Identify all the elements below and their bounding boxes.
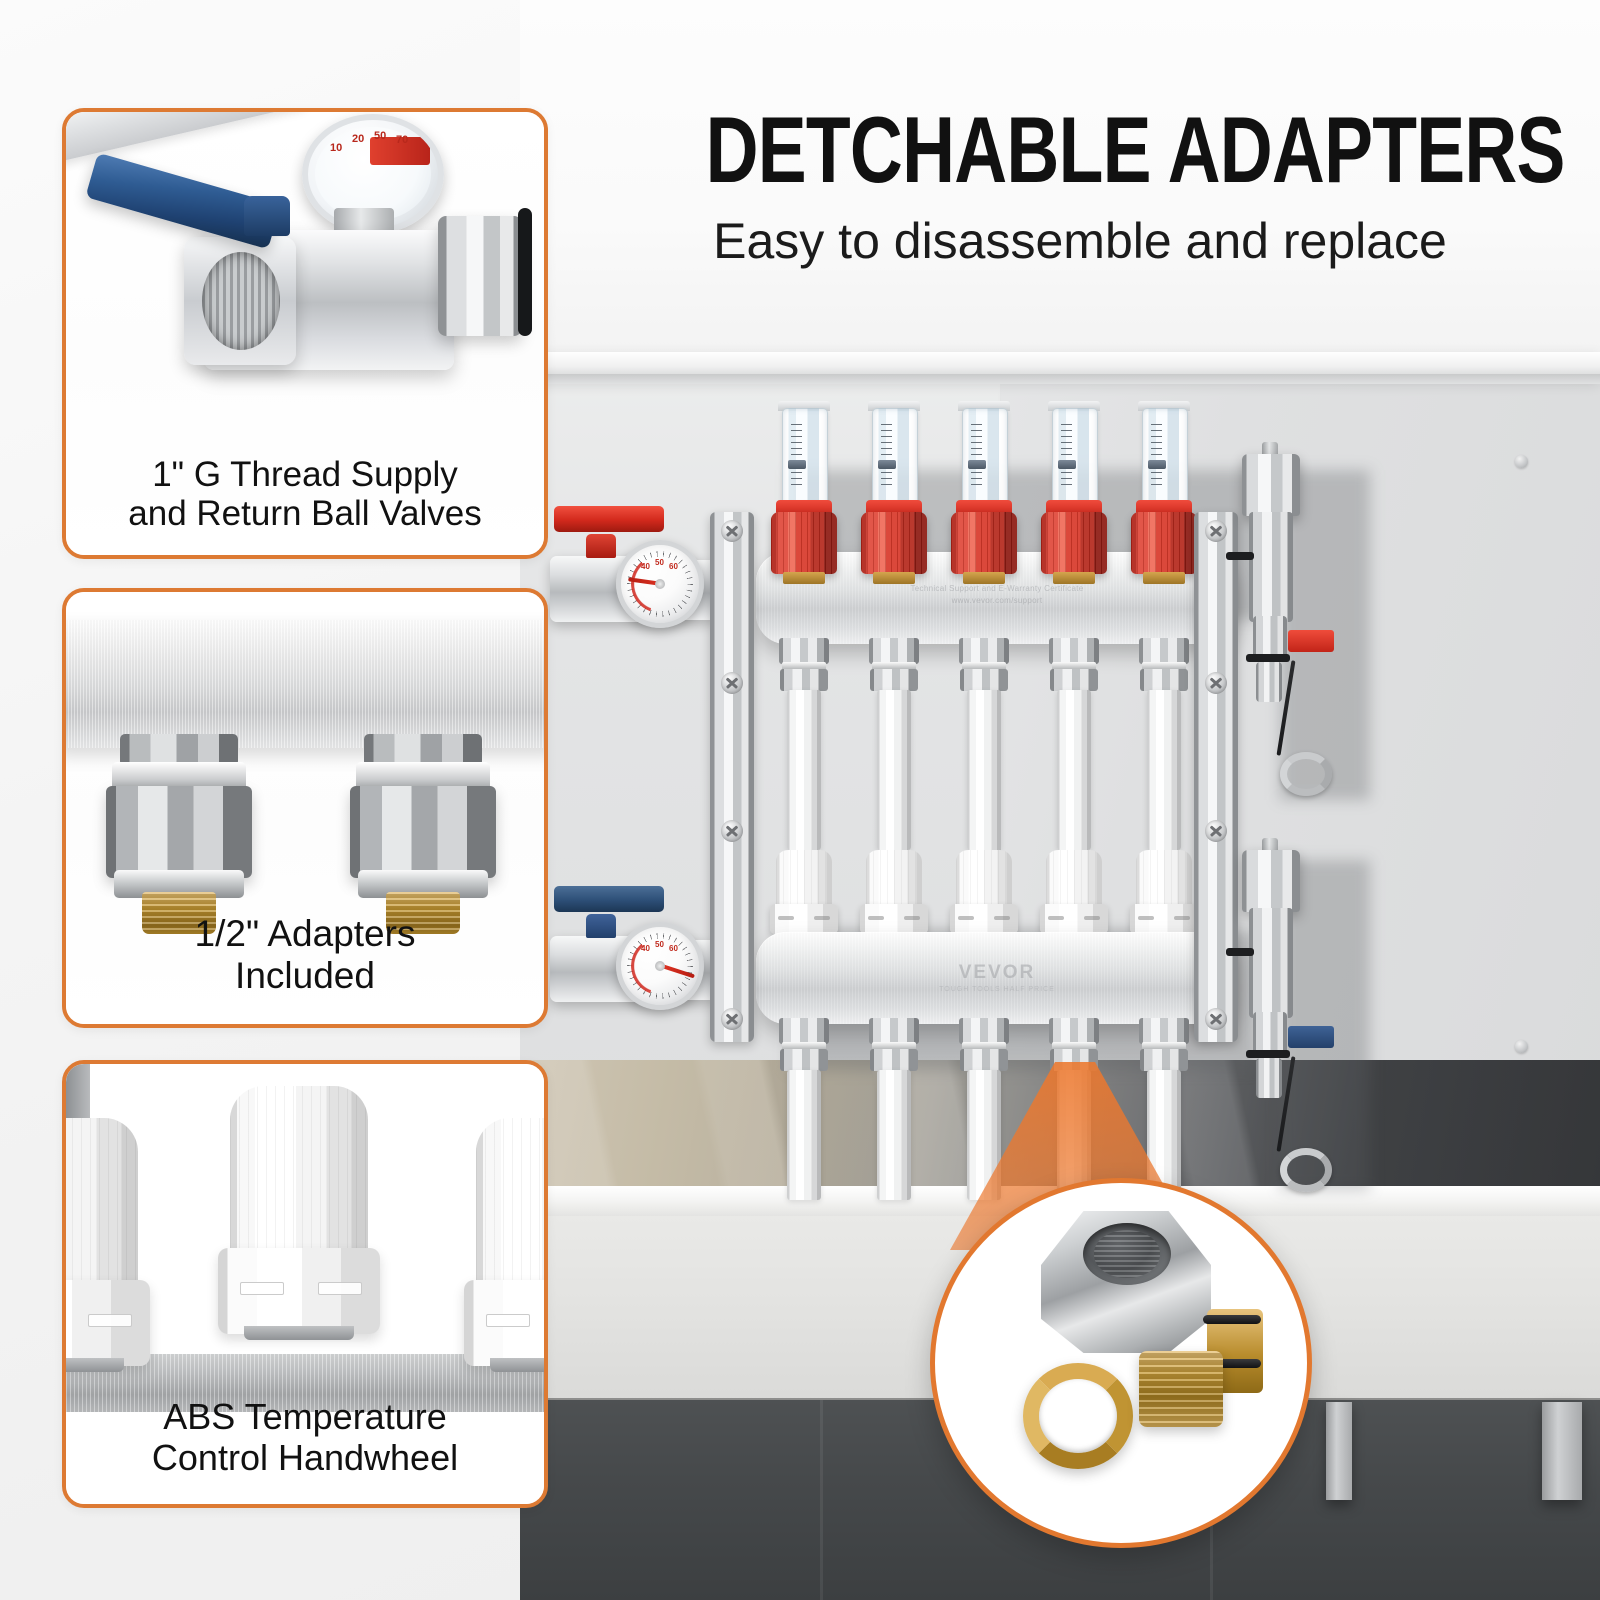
- lower-air-vent-cap: [1242, 850, 1300, 912]
- adapter-hex-nut: [1049, 1018, 1099, 1044]
- pex-pipe: [877, 1070, 911, 1200]
- flow-meter-sight-tube: [782, 408, 828, 506]
- bracket-screw-icon: [1205, 520, 1227, 542]
- brass-split-ring: [1023, 1363, 1133, 1469]
- handwheel-cap: [956, 850, 1012, 908]
- detached-parts-callout: [930, 1178, 1312, 1548]
- brass-barbed-insert: [1139, 1351, 1223, 1427]
- manifold-bar: [62, 620, 548, 748]
- lower-vent-oring2: [1246, 1050, 1290, 1058]
- upper-air-vent-cap: [1242, 454, 1300, 516]
- flow-meter-sight-tube: [962, 408, 1008, 506]
- adapter-main-hex: [106, 786, 252, 878]
- handwheel-slot: [904, 916, 920, 920]
- nut-threaded-bore: [1083, 1223, 1171, 1285]
- flow-meter-red-body[interactable]: [1041, 512, 1107, 574]
- pex-pipe: [967, 690, 1001, 850]
- flow-meter-float: [1148, 460, 1166, 469]
- lower-vent-neck: [1249, 908, 1293, 1018]
- flow-meter-brass-base: [1143, 572, 1185, 584]
- gauge-number: 40: [641, 944, 650, 953]
- upper-vent-neck: [1249, 512, 1293, 622]
- pex-pipe: [787, 1070, 821, 1200]
- adapter-hex-nut: [779, 638, 829, 664]
- adapter-hex-nut: [869, 1018, 919, 1044]
- handwheel-slot: [994, 916, 1010, 920]
- adapter-hex-nut: [959, 638, 1009, 664]
- adapter-hex-nut: [959, 1018, 1009, 1044]
- product-infographic: 40 50 60 Technical Support and E-Warrant…: [0, 0, 1600, 1600]
- pex-pipe: [1147, 690, 1181, 850]
- gauge-number: 40: [641, 562, 650, 571]
- bracket-screw-icon: [1205, 1008, 1227, 1030]
- flow-meter-scale: [1061, 424, 1072, 490]
- mounting-bracket-left: [710, 512, 754, 1042]
- adapter-lower-hex: [1140, 669, 1188, 691]
- handwheel-cap: [866, 850, 922, 908]
- gauge-number: 50: [655, 558, 664, 567]
- flow-meter-red-body[interactable]: [861, 512, 927, 574]
- handwheel-cap: [230, 1086, 368, 1258]
- flow-meter-scale: [791, 424, 802, 490]
- handwheel-slot: [814, 916, 830, 920]
- feature-panel-adapters: 1/2" Adapters Included: [62, 588, 548, 1028]
- pex-pipe: [1057, 690, 1091, 850]
- supply-thermometer-gauge: 40 50 60: [616, 540, 704, 628]
- page-title: DETCHABLE ADAPTERS: [706, 96, 1455, 204]
- adapter-lower-hex: [870, 669, 918, 691]
- flow-meter-red-body[interactable]: [951, 512, 1017, 574]
- handwheel-slot: [240, 1282, 284, 1295]
- feature-caption-adapters: 1/2" Adapters Included: [66, 913, 544, 1010]
- flow-meter-sight-tube: [1142, 408, 1188, 506]
- pex-pipe: [877, 690, 911, 850]
- feature-caption-handwheel: ABS Temperature Control Handwheel: [66, 1397, 544, 1492]
- lever-hub: [244, 196, 290, 236]
- pex-pipe: [787, 690, 821, 850]
- flow-meter-scale: [971, 424, 982, 490]
- valve-o-ring: [518, 208, 532, 336]
- handwheel-slot: [778, 916, 794, 920]
- gauge-number: 10: [330, 142, 342, 154]
- gauge-number: 70: [396, 134, 408, 146]
- valve-thread-bore: [202, 252, 280, 350]
- barb-o-ring: [1203, 1315, 1261, 1324]
- adapter-lower-hex: [960, 669, 1008, 691]
- flow-meter-brass-base: [963, 572, 1005, 584]
- return-manifold-bar: [756, 932, 1238, 1024]
- adapter-lower-hex: [960, 1049, 1008, 1071]
- gauge-number: 50: [655, 940, 664, 949]
- adapter-lower-hex: [870, 1049, 918, 1071]
- bracket-screw-icon: [721, 820, 743, 842]
- return-thermometer-gauge: 40 50 60: [616, 922, 704, 1010]
- upper-vent-outlet: [1256, 662, 1282, 702]
- adapter-lower-hex: [780, 669, 828, 691]
- valve-union-nut: [438, 216, 522, 336]
- lower-vent-outlet: [1256, 1058, 1282, 1098]
- adapter-lower-hex: [1050, 669, 1098, 691]
- flow-meter-float: [1058, 460, 1076, 469]
- lower-hose-clamp: [1280, 1148, 1332, 1192]
- gauge-number: 60: [669, 562, 678, 571]
- feature-caption-ball-valves: 1" G Thread Supply and Return Ball Valve…: [66, 455, 544, 547]
- bracket-screw-icon: [721, 520, 743, 542]
- adapter-lower-hex: [780, 1049, 828, 1071]
- gauge-number: 60: [669, 944, 678, 953]
- flow-meter-red-body[interactable]: [771, 512, 837, 574]
- upper-drain-valve-handle[interactable]: [1288, 630, 1334, 652]
- flow-meter-brass-base: [1053, 572, 1095, 584]
- gauge-number: 20: [352, 133, 364, 145]
- adapter-lower-hex: [1140, 1049, 1188, 1071]
- adapter-main-hex: [350, 786, 496, 878]
- flow-meter-float: [968, 460, 986, 469]
- adapter-hex-nut: [869, 638, 919, 664]
- feature-panel-ball-valves: 10 20 50 70 1" G Thread Supply and Retur…: [62, 108, 548, 559]
- gauge-hub: [655, 961, 665, 971]
- supply-red-lever-handle[interactable]: [554, 506, 664, 532]
- flow-meter-float: [878, 460, 896, 469]
- feature-panel-handwheel: ABS Temperature Control Handwheel: [62, 1060, 548, 1508]
- bracket-screw-icon: [721, 1008, 743, 1030]
- lower-vent-lower-neck: [1253, 1012, 1287, 1054]
- handwheel-slot: [1174, 916, 1190, 920]
- handwheel-foot: [62, 1358, 124, 1372]
- flow-meter-scale: [881, 424, 892, 490]
- flow-meter-brass-base: [783, 572, 825, 584]
- gauge-number: 50: [374, 130, 386, 142]
- handwheel-slot: [1084, 916, 1100, 920]
- handwheel-cap: [1046, 850, 1102, 908]
- handwheel-foot: [244, 1326, 354, 1340]
- bracket-screw-icon: [1205, 672, 1227, 694]
- lower-vent-oring: [1226, 948, 1254, 956]
- supply-lever-hub: [586, 534, 616, 558]
- lower-drain-valve-handle[interactable]: [1288, 1026, 1334, 1048]
- handwheel-cap: [1136, 850, 1192, 908]
- adapter-hex-nut: [1139, 1018, 1189, 1044]
- handwheel-cap: [62, 1118, 138, 1290]
- upper-vent-lower-neck: [1253, 616, 1287, 658]
- page-subtitle: Easy to disassemble and replace: [600, 212, 1560, 270]
- flow-meter-sight-tube: [872, 408, 918, 506]
- return-blue-lever-handle[interactable]: [554, 886, 664, 912]
- bracket-screw-icon: [721, 672, 743, 694]
- handwheel-slot: [1138, 916, 1154, 920]
- flow-meter-brass-base: [873, 572, 915, 584]
- handwheel-slot: [958, 916, 974, 920]
- upper-vent-oring: [1226, 552, 1254, 560]
- gauge-hub: [655, 579, 665, 589]
- flow-meter-red-body[interactable]: [1131, 512, 1197, 574]
- adapter-hex-nut: [1049, 638, 1099, 664]
- handwheel-cap: [776, 850, 832, 908]
- handwheel-foot: [490, 1358, 548, 1372]
- adapter-hex-nut: [1139, 638, 1189, 664]
- return-lever-hub: [586, 914, 616, 938]
- handwheel-slot: [868, 916, 884, 920]
- bracket-screw-icon: [1205, 820, 1227, 842]
- upper-vent-oring2: [1246, 654, 1290, 662]
- upper-hose-clamp: [1280, 752, 1332, 796]
- handwheel-slot: [486, 1314, 530, 1327]
- handwheel-slot: [1048, 916, 1064, 920]
- handwheel-slot: [88, 1314, 132, 1327]
- mounting-bracket-right: [1194, 512, 1238, 1042]
- barb-ribs: [1139, 1351, 1223, 1427]
- flow-meter-float: [788, 460, 806, 469]
- flow-meter-sight-tube: [1052, 408, 1098, 506]
- flow-meter-scale: [1151, 424, 1162, 490]
- adapter-hex-nut: [779, 1018, 829, 1044]
- handwheel-cap: [476, 1118, 548, 1290]
- handwheel-slot: [318, 1282, 362, 1295]
